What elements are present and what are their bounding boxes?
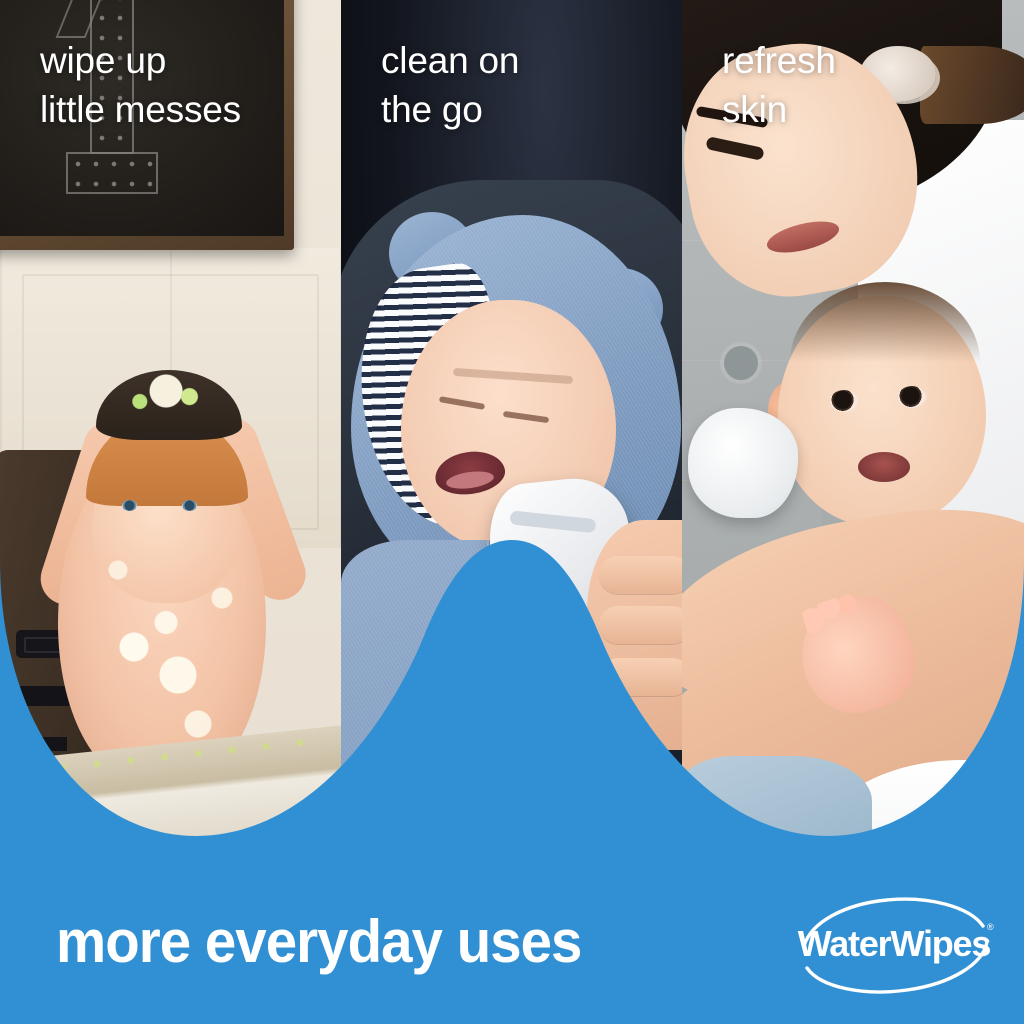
- svg-text:WaterWipes: WaterWipes: [798, 923, 991, 964]
- bottom-banner: more everyday uses WaterWipes ® WaterWip…: [0, 884, 1024, 1024]
- waterwipes-logo[interactable]: WaterWipes ® WaterWipes: [787, 890, 1002, 998]
- panel-wipe-up-little-messes[interactable]: wipe up little messes: [0, 0, 341, 900]
- promo-tile: wipe up little messes: [0, 0, 1024, 1024]
- svg-text:®: ®: [987, 922, 994, 932]
- panel-3-artwork: [682, 0, 1024, 900]
- banner-headline: more everyday uses: [56, 900, 581, 984]
- panel-2-artwork: [341, 0, 682, 900]
- baby-wipe: [688, 408, 798, 518]
- panel-refresh-skin[interactable]: refresh skin: [682, 0, 1024, 900]
- panel-clean-on-the-go[interactable]: clean on the go: [341, 0, 682, 900]
- panel-3-caption: refresh skin: [722, 36, 836, 134]
- panel-1-artwork: [0, 0, 341, 900]
- panel-2-caption: clean on the go: [381, 36, 519, 134]
- panel-1-caption: wipe up little messes: [40, 36, 241, 134]
- photo-strip: wipe up little messes: [0, 0, 1024, 900]
- logo-wordmark-text: WaterWipes: [787, 998, 788, 999]
